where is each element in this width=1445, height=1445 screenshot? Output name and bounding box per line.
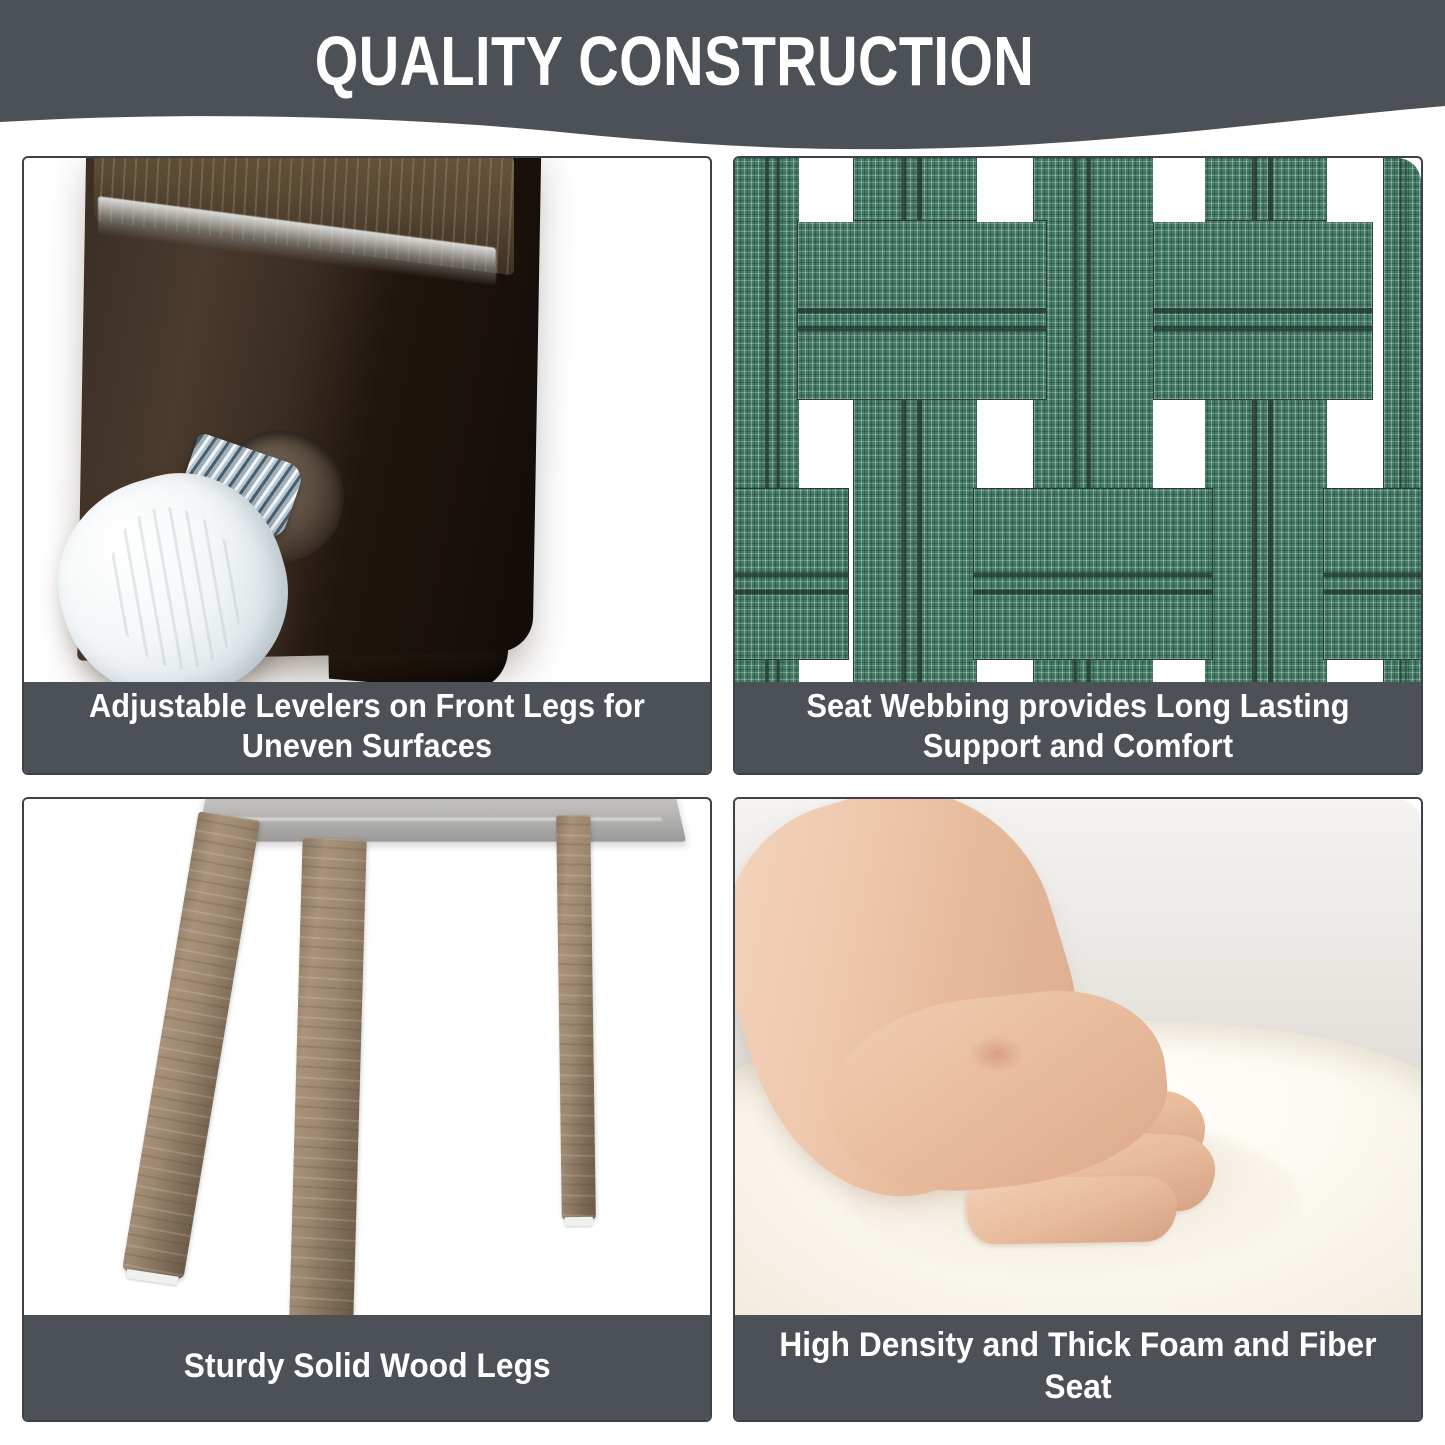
webbing-strap-horizontal xyxy=(797,220,1047,400)
webbing-gap xyxy=(799,400,853,488)
panel-foam: High Density and Thick Foam and Fiber Se… xyxy=(733,797,1423,1422)
caption-bar-foam: High Density and Thick Foam and Fiber Se… xyxy=(735,1315,1421,1420)
panel-legs: Sturdy Solid Wood Legs xyxy=(22,797,712,1422)
panel-webbing: Seat Webbing provides Long Lasting Suppo… xyxy=(733,156,1423,775)
caption-text: High Density and Thick Foam and Fiber Se… xyxy=(774,1324,1382,1408)
webbing-strap-horizontal xyxy=(973,488,1213,660)
webbing-strap-horizontal xyxy=(1323,488,1421,660)
webbing-gap xyxy=(977,158,1033,222)
header-banner: QUALITY CONSTRUCTION xyxy=(0,0,1445,150)
webbing-gap xyxy=(799,660,853,682)
webbing-gap xyxy=(977,400,1033,488)
page-title: QUALITY CONSTRUCTION xyxy=(145,22,1301,100)
webbing-gap xyxy=(1327,158,1379,222)
seat-webbing-photo xyxy=(735,158,1421,682)
caption-text: Sturdy Solid Wood Legs xyxy=(184,1345,551,1387)
wood-leg-front xyxy=(289,838,366,1315)
webbing-gap xyxy=(1153,400,1205,488)
caption-text: Adjustable Levelers on Front Legs for Un… xyxy=(63,686,671,766)
panel-levelers: Adjustable Levelers on Front Legs for Un… xyxy=(22,156,712,775)
wood-leg-back-left xyxy=(122,812,260,1280)
webbing-gap xyxy=(1327,660,1379,682)
adjustable-leveler-photo xyxy=(24,158,710,682)
pressing-hand xyxy=(735,799,1311,1271)
webbing-gap xyxy=(799,158,853,222)
hand-knuckle xyxy=(969,1035,1025,1073)
webbing-gap xyxy=(1153,660,1205,682)
webbing-strap-horizontal xyxy=(735,488,849,660)
webbing-gap xyxy=(977,660,1033,682)
webbing-gap xyxy=(1327,400,1379,488)
caption-bar-webbing: Seat Webbing provides Long Lasting Suppo… xyxy=(735,682,1421,773)
wood-leg-right xyxy=(556,815,596,1219)
caption-bar-levelers: Adjustable Levelers on Front Legs for Un… xyxy=(24,682,710,773)
caption-bar-legs: Sturdy Solid Wood Legs xyxy=(24,1315,710,1420)
solid-wood-legs-photo xyxy=(24,799,710,1315)
webbing-strap-horizontal xyxy=(1153,220,1373,400)
caption-text: Seat Webbing provides Long Lasting Suppo… xyxy=(774,686,1382,766)
feature-panel-grid: Adjustable Levelers on Front Legs for Un… xyxy=(22,156,1423,1422)
webbing-gap xyxy=(1153,158,1205,222)
high-density-foam-photo xyxy=(735,799,1421,1315)
upholstered-seat-frame xyxy=(196,799,686,842)
